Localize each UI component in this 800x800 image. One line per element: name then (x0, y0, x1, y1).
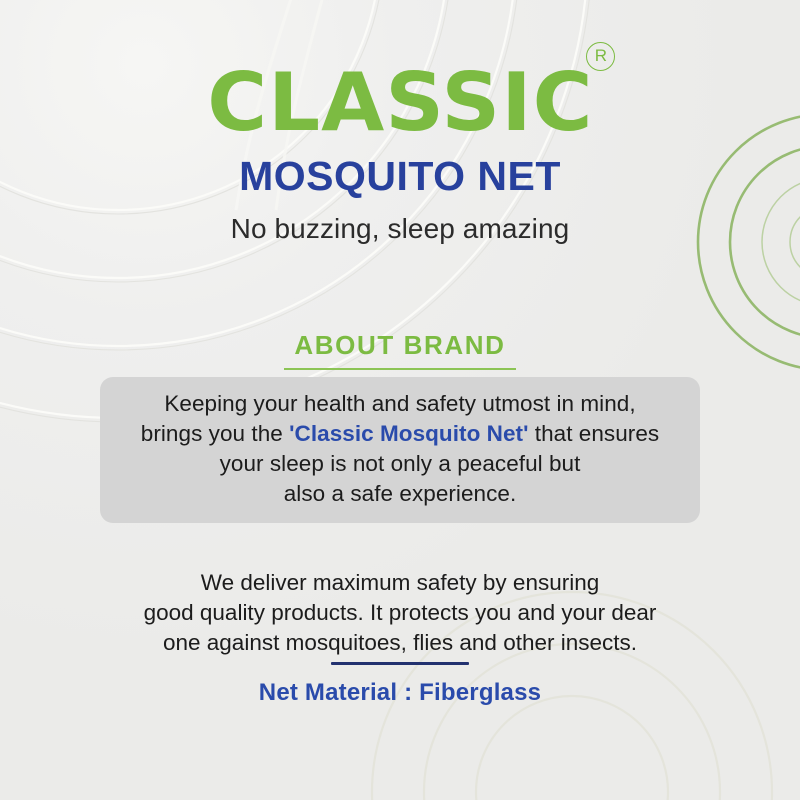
about-brand-callout-box: Keeping your health and safety utmost in… (100, 377, 700, 523)
callout-brand-highlight: 'Classic Mosquito Net' (289, 421, 528, 446)
logo-wordmark: CLASSIC (207, 66, 593, 140)
footer-divider (331, 662, 469, 665)
body-copy-line-2: good quality products. It protects you a… (144, 600, 657, 625)
registered-trademark-icon: R (586, 42, 615, 71)
callout-line-1: Keeping your health and safety utmost in… (164, 391, 635, 416)
poster-canvas: CLASSIC R MOSQUITO NET No buzzing, sleep… (0, 0, 800, 800)
callout-line-4: also a safe experience. (284, 481, 517, 506)
logo-subtitle: MOSQUITO NET (0, 156, 800, 197)
about-brand-callout-text: Keeping your health and safety utmost in… (141, 389, 659, 509)
body-copy-line-3: one against mosquitoes, flies and other … (163, 630, 637, 655)
footer-block: Net Material : Fiberglass (0, 662, 800, 707)
body-copy: We deliver maximum safety by ensuring go… (80, 568, 720, 658)
body-copy-line-1: We deliver maximum safety by ensuring (201, 570, 600, 595)
net-material-label: Net Material : Fiberglass (0, 679, 800, 707)
callout-line-2-post: that ensures (528, 421, 659, 446)
about-brand-heading-wrap: ABOUT BRAND (0, 330, 800, 370)
brand-tagline: No buzzing, sleep amazing (0, 213, 800, 245)
callout-line-3: your sleep is not only a peaceful but (220, 451, 581, 476)
brand-header: CLASSIC R MOSQUITO NET No buzzing, sleep… (0, 66, 800, 245)
logo-lockup: CLASSIC R (211, 66, 590, 140)
callout-line-2-pre: brings you the (141, 421, 289, 446)
about-brand-heading: ABOUT BRAND (284, 330, 515, 370)
